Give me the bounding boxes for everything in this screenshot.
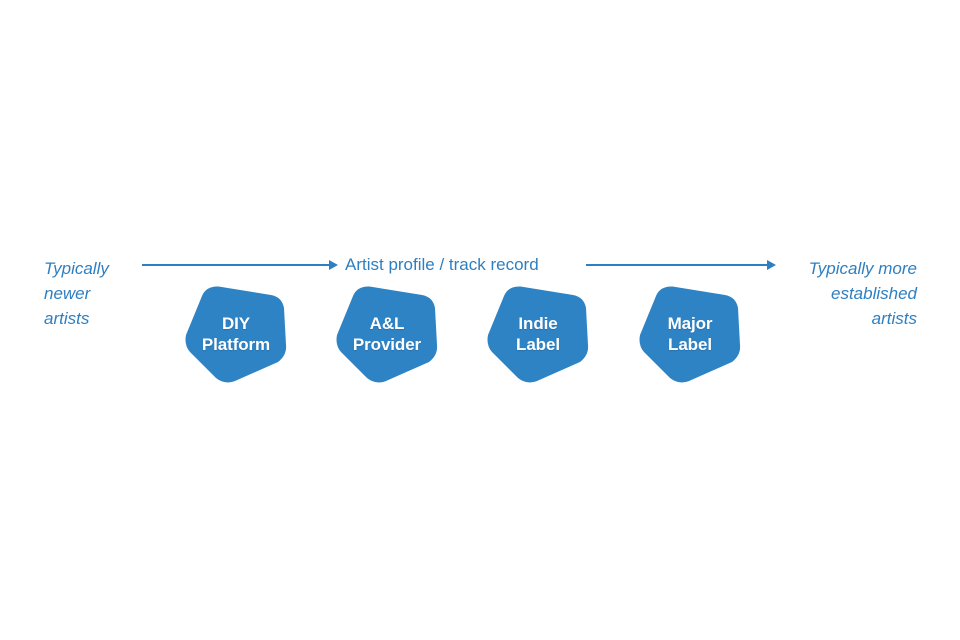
node-label: A&L Provider [353,313,421,355]
node-diy-platform[interactable]: DIY Platform [183,283,289,384]
node-label: DIY Platform [202,313,270,355]
node-major-label[interactable]: Major Label [637,283,743,384]
arrow-shaft [586,264,767,266]
axis-label: Artist profile / track record [345,254,539,275]
node-label: Major Label [668,313,713,355]
arrow-left-segment [142,259,338,271]
node-label: Indie Label [516,313,560,355]
arrow-shaft [142,264,329,266]
node-indie-label[interactable]: Indie Label [485,283,591,384]
caption-right: Typically more established artists [747,256,917,331]
diagram-canvas: Typically newer artists Artist profile /… [0,0,960,640]
arrow-right-icon [329,260,338,270]
node-al-provider[interactable]: A&L Provider [334,283,440,384]
